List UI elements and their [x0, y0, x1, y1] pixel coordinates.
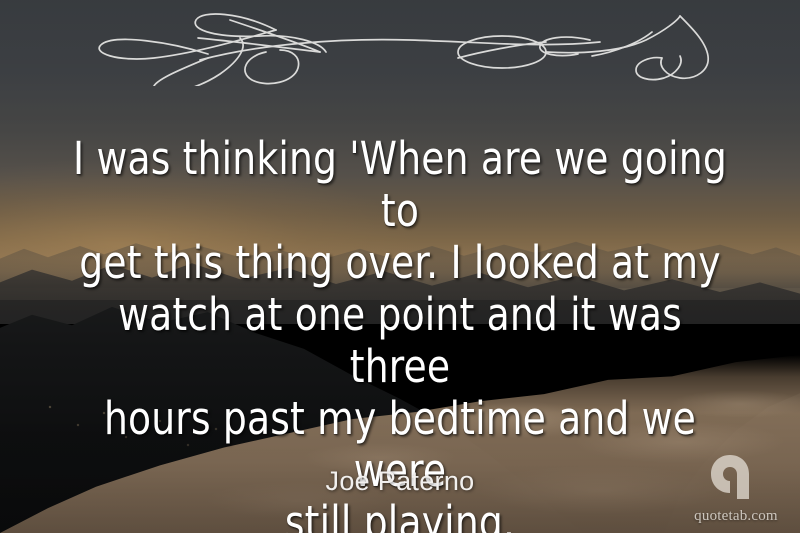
watermark[interactable]: quotetab.com [682, 453, 790, 525]
quote-author: Joe Paterno [0, 466, 800, 497]
flourish-ornament-icon [80, 8, 720, 86]
watermark-site-label: quotetab.com [694, 508, 778, 525]
quotetab-q-logo-icon [710, 453, 762, 505]
quote-image-canvas: I was thinking 'When are we going to get… [0, 0, 800, 533]
